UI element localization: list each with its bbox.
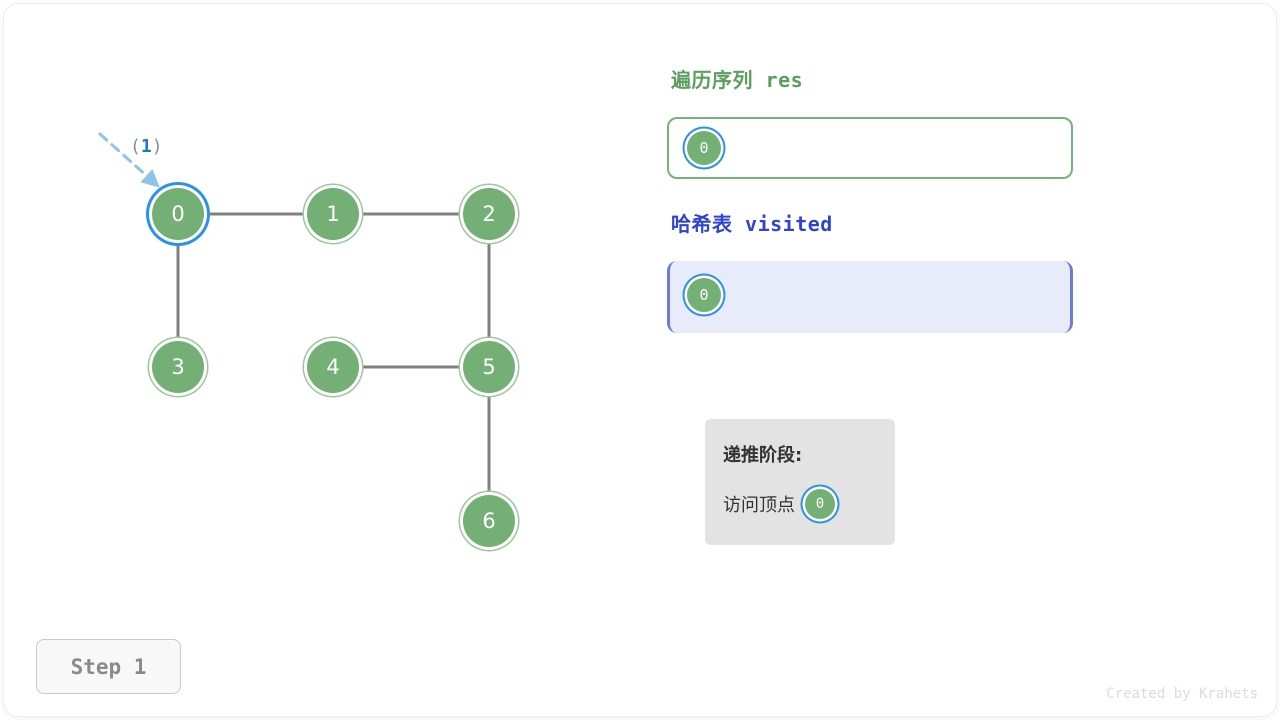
annotation-suffix: ) — [152, 136, 163, 157]
page-root: (1) 0123456 遍历序列 res 0 哈希表 visited 0 递推阶… — [0, 0, 1280, 720]
phase-heading: 递推阶段: — [723, 441, 802, 467]
step-badge: Step 1 — [36, 639, 181, 694]
step-annotation-label: (1) — [130, 136, 163, 157]
visited-hashmap-box: 0 — [667, 261, 1073, 333]
graph-node-4: 4 — [307, 341, 359, 393]
right-panel: 遍历序列 res 0 哈希表 visited 0 递推阶段: 访问顶点 0 — [666, 0, 1280, 720]
phase-vertex-node: 0 — [805, 489, 835, 519]
phase-info-box: 递推阶段: 访问顶点 0 — [705, 419, 895, 545]
res-title: 遍历序列 res — [671, 64, 803, 93]
graph-node-1: 1 — [307, 188, 359, 240]
phase-action-text: 访问顶点 — [723, 491, 795, 517]
phase-action-row: 访问顶点 0 — [723, 489, 835, 519]
visited-title: 哈希表 visited — [671, 208, 833, 237]
graph-node-0: 0 — [152, 188, 204, 240]
res-array-box: 0 — [667, 117, 1073, 179]
graph-node-2: 2 — [463, 188, 515, 240]
graph-node-3: 3 — [152, 341, 204, 393]
graph-canvas: (1) 0123456 — [0, 0, 640, 720]
graph-node-6: 6 — [463, 495, 515, 547]
annotation-number: 1 — [141, 136, 152, 157]
visited-item-0: 0 — [687, 278, 721, 312]
graph-node-5: 5 — [463, 341, 515, 393]
credit-text: Created by Krahets — [1106, 686, 1258, 702]
res-item-0: 0 — [687, 131, 721, 165]
annotation-prefix: ( — [130, 136, 141, 157]
